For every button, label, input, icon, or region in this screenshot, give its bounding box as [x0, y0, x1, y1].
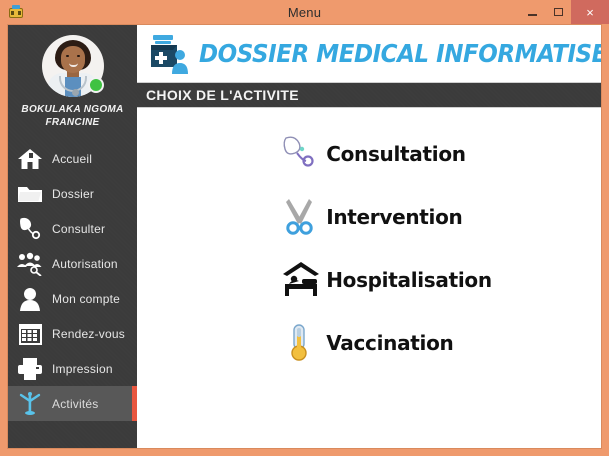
users-key-icon — [8, 252, 52, 276]
activity-label: Intervention — [326, 205, 462, 229]
sidebar-item-label: Dossier — [52, 187, 94, 201]
section-header: CHOIX DE L'ACTIVITE — [137, 82, 602, 108]
user-name-line2: FRANCINE — [12, 116, 133, 129]
sidebar-item-dossier[interactable]: Dossier — [8, 176, 137, 211]
activity-label: Hospitalisation — [326, 268, 492, 292]
sidebar-item-consulter[interactable]: Consulter — [8, 211, 137, 246]
activity-label: Consultation — [326, 142, 466, 166]
home-icon — [8, 147, 52, 171]
sidebar-item-label: Autorisation — [52, 257, 118, 271]
sidebar-item-activites[interactable]: Activités — [8, 386, 137, 421]
brand-title: DOSSIER MEDICAL INFORMATISE — [199, 39, 602, 68]
minimize-button[interactable] — [519, 0, 545, 24]
user-name-line1: BOKULAKA NGOMA — [12, 103, 133, 116]
sidebar-item-label: Activités — [52, 397, 98, 411]
hospital-bed-icon — [282, 260, 320, 300]
caduceus-icon — [8, 391, 52, 417]
activity-vaccination[interactable]: Vaccination — [282, 323, 497, 363]
sidebar-item-label: Accueil — [52, 152, 92, 166]
stethoscope-icon — [282, 134, 320, 174]
main-content: DOSSIER MEDICAL INFORMATISE CHOIX DE L'A… — [137, 25, 602, 448]
section-title: CHOIX DE L'ACTIVITE — [146, 87, 299, 103]
activity-list: Consultation Intervention — [137, 108, 602, 448]
calendar-icon — [8, 322, 52, 346]
stethoscope-icon — [8, 216, 52, 242]
medical-bag-icon — [8, 4, 24, 20]
sidebar-item-label: Mon compte — [52, 292, 120, 306]
sidebar-item-mon-compte[interactable]: Mon compte — [8, 281, 137, 316]
sidebar-item-label: Rendez-vous — [52, 327, 125, 341]
title-bar: Menu × — [0, 0, 609, 24]
close-button[interactable]: × — [571, 0, 609, 24]
sidebar-item-label: Consulter — [52, 222, 105, 236]
window-body: BOKULAKA NGOMA FRANCINE Accueil Dossier — [7, 24, 602, 449]
sidebar-menu: Accueil Dossier — [8, 141, 137, 421]
sidebar-item-rendez-vous[interactable]: Rendez-vous — [8, 316, 137, 351]
activity-consultation[interactable]: Consultation — [282, 134, 497, 174]
user-name: BOKULAKA NGOMA FRANCINE — [12, 103, 133, 129]
sidebar-item-accueil[interactable]: Accueil — [8, 141, 137, 176]
sidebar-item-autorisation[interactable]: Autorisation — [8, 246, 137, 281]
sidebar-item-impression[interactable]: Impression — [8, 351, 137, 386]
brand-header: DOSSIER MEDICAL INFORMATISE — [137, 25, 602, 82]
window-title: Menu — [0, 5, 609, 20]
activity-label: Vaccination — [326, 331, 453, 355]
folder-icon — [8, 183, 52, 205]
person-icon — [8, 287, 52, 311]
user-profile: BOKULAKA NGOMA FRANCINE — [8, 25, 137, 137]
maximize-button[interactable] — [545, 0, 571, 24]
sidebar: BOKULAKA NGOMA FRANCINE Accueil Dossier — [8, 25, 137, 448]
activity-intervention[interactable]: Intervention — [282, 197, 497, 237]
status-online-indicator — [88, 77, 104, 93]
scissors-icon — [282, 197, 320, 237]
application-window: Menu × — [0, 0, 609, 456]
avatar-wrapper — [42, 35, 104, 97]
printer-icon — [8, 357, 52, 381]
activity-hospitalisation[interactable]: Hospitalisation — [282, 260, 497, 300]
sidebar-item-label: Impression — [52, 362, 113, 376]
window-controls: × — [519, 0, 609, 24]
medical-record-logo-icon — [149, 33, 193, 75]
thermometer-icon — [282, 323, 320, 363]
